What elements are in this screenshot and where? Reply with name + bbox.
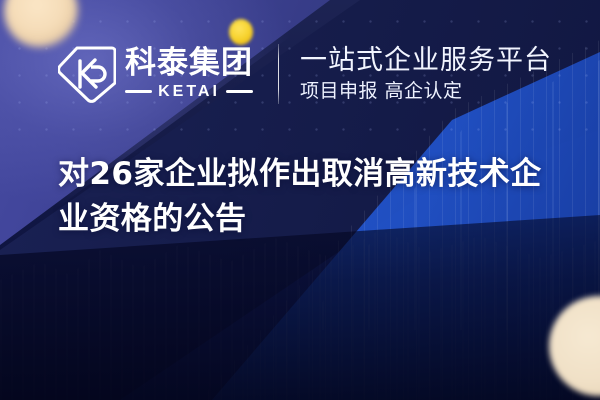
header-divider (278, 44, 279, 104)
brand-name-en-row: KETAI (125, 83, 253, 101)
tagline-block: 一站式企业服务平台 项目申报 高企认定 (300, 46, 552, 102)
banner-header: 科泰集团 KETAI 一站式企业服务平台 项目申报 高企认定 (58, 44, 552, 104)
cream-circle-large-icon (549, 296, 600, 396)
tagline-sub: 项目申报 高企认定 (300, 81, 552, 102)
brand-wordmark: 科泰集团 KETAI (125, 48, 253, 101)
gold-dot-icon (229, 19, 253, 45)
brand-rule-left (125, 90, 152, 93)
promo-banner: 科泰集团 KETAI 一站式企业服务平台 项目申报 高企认定 对26家企业拟作出… (0, 0, 600, 400)
cream-circle-icon (4, 0, 78, 48)
brand-name-cn: 科泰集团 (125, 48, 253, 79)
headline-text: 对26家企业拟作出取消高新技术企业资格的公告 (58, 152, 558, 243)
brand-name-en: KETAI (158, 83, 220, 101)
tagline-main: 一站式企业服务平台 (300, 46, 552, 75)
brand-rule-right (226, 90, 253, 93)
ketai-logo-icon (58, 45, 116, 103)
